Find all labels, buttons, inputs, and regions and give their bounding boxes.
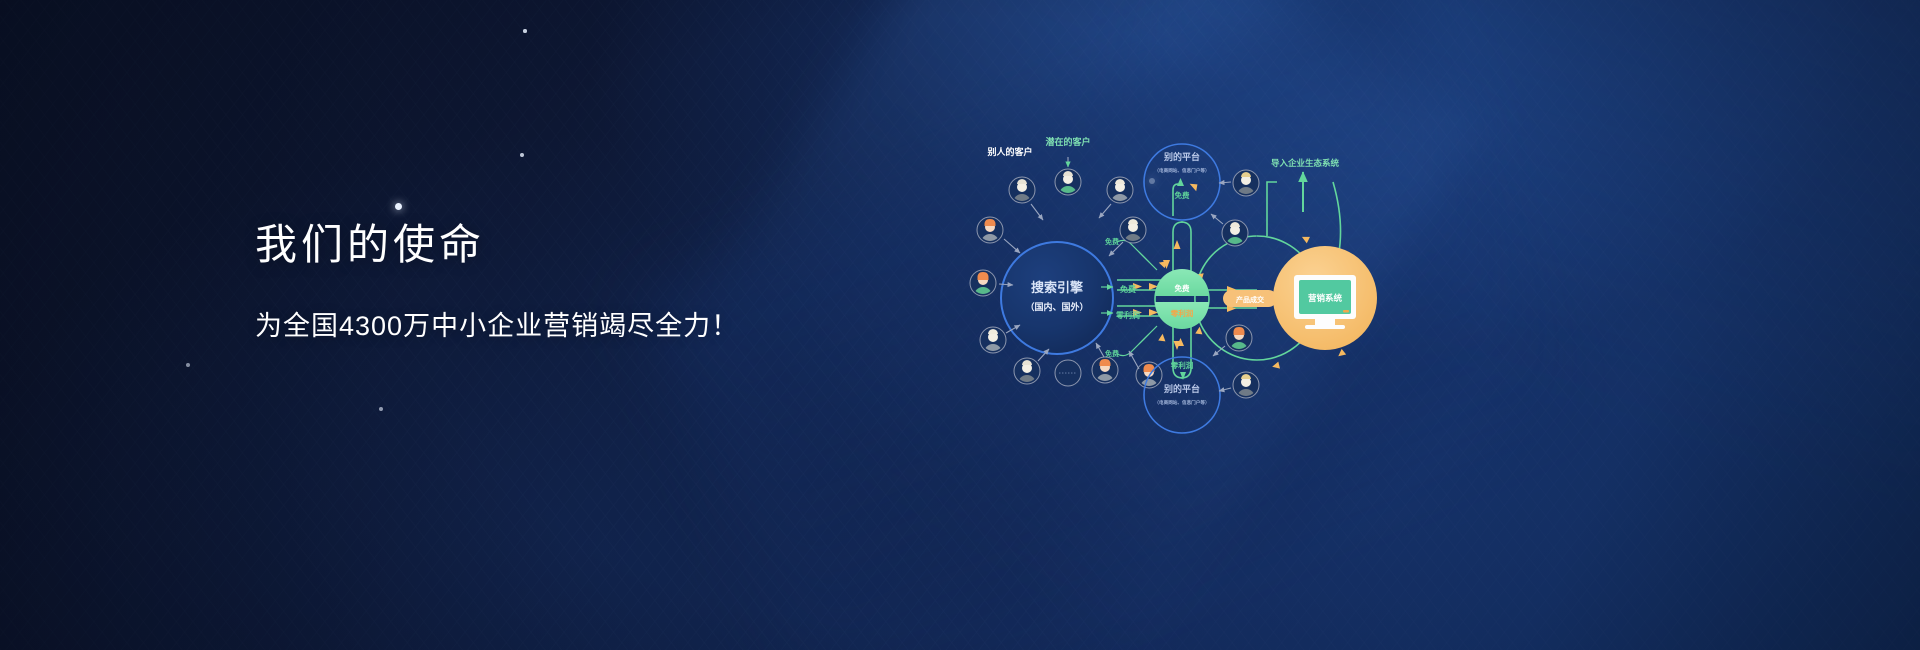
- search-engine-title: 搜索引擎: [1031, 280, 1083, 295]
- hub-top-label: 免费: [1175, 283, 1191, 293]
- avatar[interactable]: [977, 217, 1003, 243]
- avatar[interactable]: [1226, 325, 1252, 351]
- edge-label-free-upper: 免费: [1105, 237, 1119, 246]
- deal-label: 产品成交: [1236, 295, 1265, 304]
- ellipsis-node: ······: [1055, 360, 1081, 386]
- avatar[interactable]: [1055, 169, 1081, 195]
- avatar[interactable]: [1120, 217, 1146, 243]
- marketing-ecosystem-diagram: 搜索引擎 （国内、国外）: [905, 120, 1465, 430]
- edge-label-zero-profit-left: 零利润: [1115, 310, 1140, 320]
- decorative-dot: [395, 203, 402, 210]
- hero-copy: 我们的使命 为全国4300万中小企业营销竭尽全力！: [255, 220, 875, 343]
- platform-top-tag: 免费: [1175, 190, 1191, 200]
- platform-bottom-subtitle: （电商网站、信息门户等）: [1154, 399, 1209, 406]
- avatar[interactable]: [1107, 177, 1133, 203]
- decorative-dot: [379, 407, 383, 411]
- hero-banner: 我们的使命 为全国4300万中小企业营销竭尽全力！: [0, 0, 1920, 650]
- decorative-dot: [520, 153, 524, 157]
- marketing-system-label: 营销系统: [1308, 293, 1343, 303]
- node-search-engine[interactable]: 搜索引擎 （国内、国外）: [1001, 242, 1113, 354]
- avatar-cluster-platform-top: [1211, 170, 1259, 246]
- avatar[interactable]: [1233, 372, 1259, 398]
- avatar[interactable]: [1092, 357, 1118, 383]
- avatar[interactable]: [980, 327, 1006, 353]
- avatar[interactable]: [1014, 358, 1040, 384]
- hub-bottom-label: 零利润: [1170, 308, 1194, 318]
- platform-top-subtitle: （电商网站、信息门户等）: [1154, 167, 1209, 174]
- avatar[interactable]: [1233, 170, 1259, 196]
- avatar[interactable]: [1009, 177, 1035, 203]
- page-subtitle: 为全国4300万中小企业营销竭尽全力！: [255, 304, 875, 343]
- label-import-ecosystem-group: 导入企业生态系统: [1271, 158, 1340, 168]
- page-title: 我们的使命: [255, 220, 875, 270]
- node-platform-top[interactable]: 别的平台 （电商网站、信息门户等） 免费: [1144, 144, 1220, 220]
- avatar[interactable]: [970, 270, 996, 296]
- avatar[interactable]: [1222, 220, 1248, 246]
- search-engine-subtitle: （国内、国外）: [1025, 301, 1088, 312]
- platform-top-title: 别的平台: [1163, 151, 1200, 162]
- platform-bottom-title: 别的平台: [1163, 383, 1200, 394]
- node-marketing-system[interactable]: 营销系统: [1273, 246, 1377, 350]
- label-import-ecosystem: 导入企业生态系统: [1271, 158, 1340, 168]
- label-potential-customers: 潜在的客户: [1045, 136, 1090, 147]
- decorative-dot: [186, 363, 190, 367]
- ellipsis-label: ······: [1059, 371, 1077, 377]
- edge-label-free-left: 免费: [1120, 284, 1136, 294]
- edge-label-free-lower: 免费: [1105, 349, 1119, 358]
- node-center-hub[interactable]: 免费 零利润: [1155, 269, 1209, 329]
- platform-bottom-tag: 零利润: [1170, 360, 1194, 370]
- node-deal[interactable]: 产品成交: [1223, 290, 1277, 307]
- label-others-customers: 别人的客户: [986, 146, 1032, 157]
- decorative-dot: [523, 29, 527, 33]
